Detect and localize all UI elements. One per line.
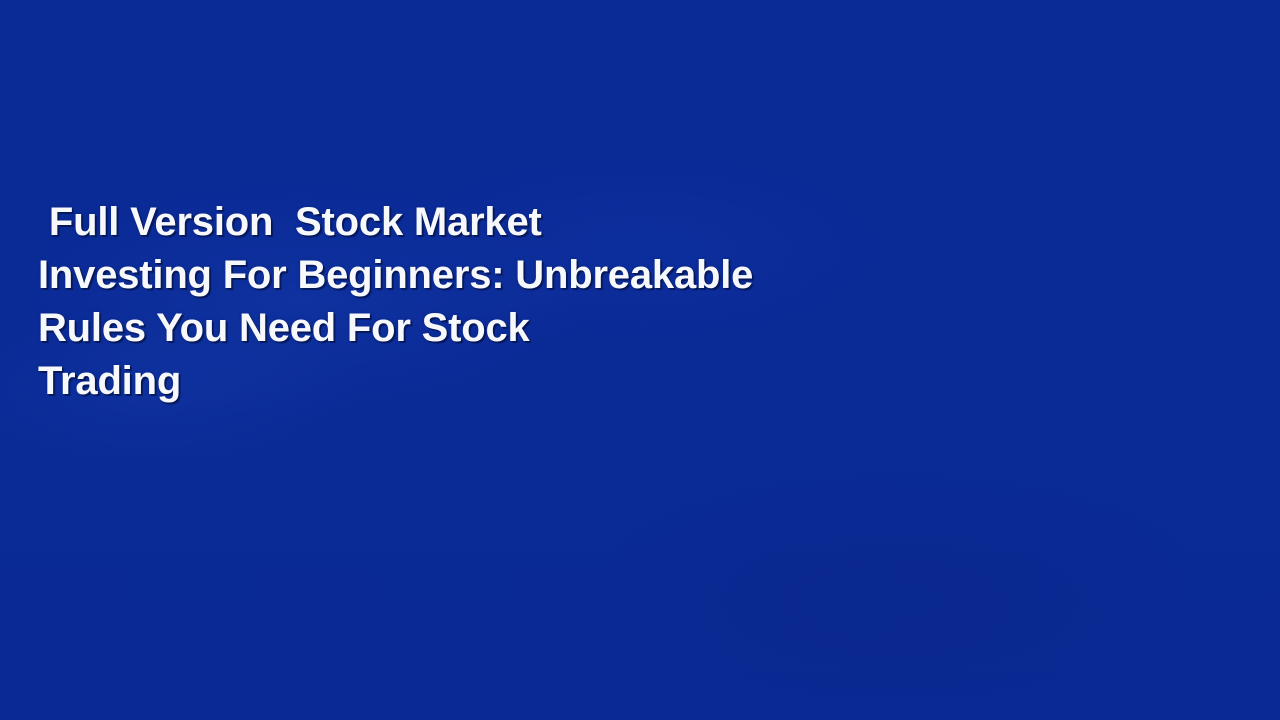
title-line-3: Rules You Need For Stock — [38, 302, 938, 355]
title-line-1: Full Version Stock Market — [38, 196, 938, 249]
promo-slide: Full Version Stock Market Investing For … — [0, 0, 1280, 720]
title-block: Full Version Stock Market Investing For … — [38, 196, 938, 408]
title-line-2: Investing For Beginners: Unbreakable — [38, 249, 938, 302]
title-line-4: Trading — [38, 355, 938, 408]
